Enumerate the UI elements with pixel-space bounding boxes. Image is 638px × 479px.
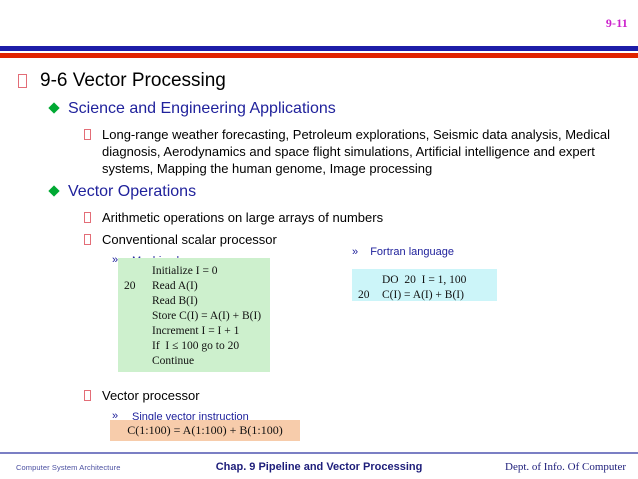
code-line-text: C(I) = A(I) + B(I) bbox=[382, 289, 464, 301]
slide-title: 9-6 Vector Processing bbox=[0, 68, 638, 94]
list-item-label: Long-range weather forecasting, Petroleu… bbox=[102, 127, 610, 176]
code-line-label: 20 bbox=[118, 279, 152, 294]
list-item-label: Vector processor bbox=[102, 388, 200, 403]
diamond-bullet-icon bbox=[48, 185, 59, 196]
list-item: Vector processor bbox=[0, 387, 638, 404]
list-item: Long-range weather forecasting, Petroleu… bbox=[0, 126, 638, 177]
list-item: Conventional scalar processor bbox=[0, 231, 638, 248]
page-number: 9-11 bbox=[606, 16, 628, 31]
section-heading-label: Vector Operations bbox=[68, 183, 196, 200]
code-line-text: DO 20 I = 1, 100 bbox=[382, 274, 466, 286]
slide-body: 9-6 Vector Processing Science and Engine… bbox=[0, 66, 638, 269]
code-line: Store C(I) = A(I) + B(I) bbox=[118, 309, 270, 324]
code-line-text: C(1:100) = A(1:100) + B(1:100) bbox=[127, 423, 283, 437]
section-heading-science: Science and Engineering Applications bbox=[0, 97, 638, 121]
code-line-label: 20 bbox=[352, 288, 382, 303]
code-line: Increment I = I + 1 bbox=[118, 324, 270, 339]
list-item-label: Conventional scalar processor bbox=[102, 232, 277, 247]
vector-processor-group: Vector processor » Single vector instruc… bbox=[0, 382, 638, 425]
code-line-text: Continue bbox=[152, 355, 194, 367]
code-block-vector-instruction: C(1:100) = A(1:100) + B(1:100) bbox=[110, 420, 300, 441]
sub-label-fortran-language: » Fortran language bbox=[352, 244, 454, 260]
list-item-label: Arithmetic operations on large arrays of… bbox=[102, 210, 383, 225]
code-line: If I ≤ 100 go to 20 bbox=[118, 339, 270, 354]
square-bullet-icon bbox=[84, 212, 91, 223]
code-line: 20Read A(I) bbox=[118, 279, 270, 294]
square-bullet-icon bbox=[84, 129, 91, 140]
sub-label-text: Fortran language bbox=[370, 246, 454, 258]
code-line-text: Read B(I) bbox=[152, 295, 198, 307]
code-line: Read B(I) bbox=[118, 294, 270, 309]
code-line-text: Increment I = I + 1 bbox=[152, 325, 239, 337]
sub-label-single-vector-instruction: » Single vector instruction bbox=[0, 409, 638, 425]
code-line-text: Initialize I = 0 bbox=[152, 265, 218, 277]
code-line: Continue bbox=[118, 354, 270, 369]
square-bullet-icon bbox=[84, 390, 91, 401]
code-line: Initialize I = 0 bbox=[118, 264, 270, 279]
guillemet-bullet-icon: » bbox=[352, 246, 358, 258]
header-rule-red bbox=[0, 53, 638, 58]
slide: 9-11 9-6 Vector Processing Science and E… bbox=[0, 0, 638, 479]
code-line: DO 20 I = 1, 100 bbox=[352, 273, 497, 288]
code-line: 20C(I) = A(I) + B(I) bbox=[352, 288, 497, 303]
section-heading-label: Science and Engineering Applications bbox=[68, 100, 336, 117]
code-block-fortran: DO 20 I = 1, 100 20C(I) = A(I) + B(I) bbox=[352, 269, 497, 301]
slide-title-text: 9-6 Vector Processing bbox=[40, 70, 226, 91]
header-rule-blue bbox=[0, 46, 638, 51]
square-bullet-icon bbox=[18, 74, 27, 88]
square-bullet-icon bbox=[84, 234, 91, 245]
code-line-text: If I ≤ 100 go to 20 bbox=[152, 340, 239, 352]
diamond-bullet-icon bbox=[48, 102, 59, 113]
footer-divider bbox=[0, 452, 638, 454]
footer-right-text: Dept. of Info. Of Computer bbox=[505, 461, 626, 473]
sub-label-machine-language: » Machine language bbox=[0, 253, 638, 269]
code-line-text: Store C(I) = A(I) + B(I) bbox=[152, 310, 261, 322]
section-heading-vector-operations: Vector Operations bbox=[0, 180, 638, 204]
code-line-text: Read A(I) bbox=[152, 280, 198, 292]
list-item: Arithmetic operations on large arrays of… bbox=[0, 209, 638, 226]
code-block-machine-language: Initialize I = 0 20Read A(I) Read B(I) S… bbox=[118, 258, 270, 372]
